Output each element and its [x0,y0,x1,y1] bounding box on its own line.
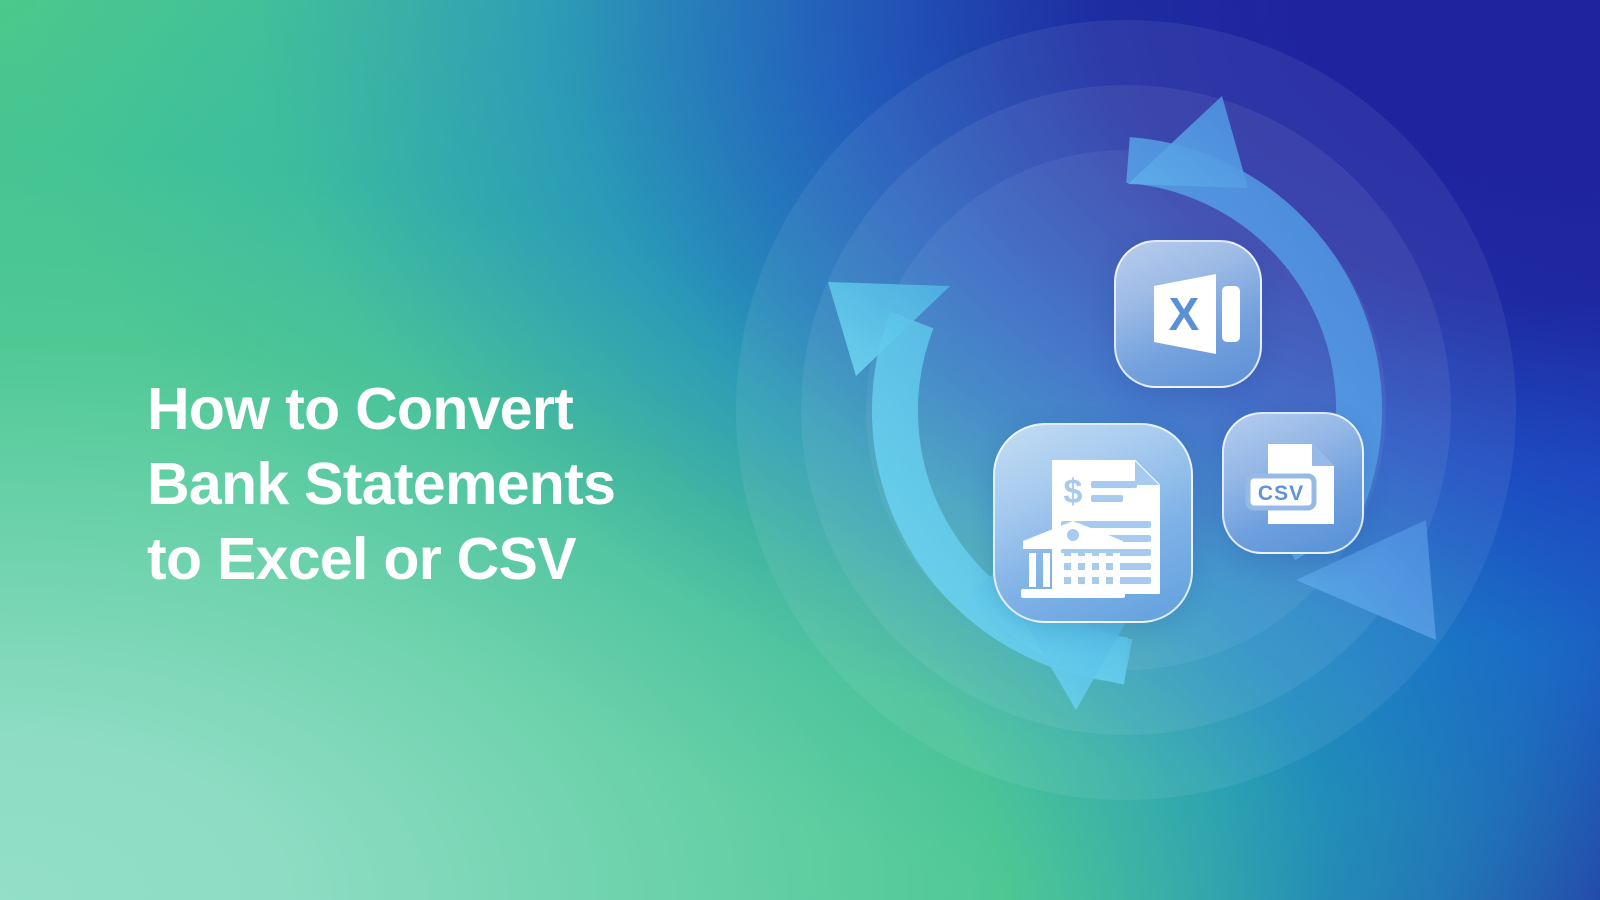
excel-letter-x: X [1169,288,1200,340]
csv-badge-label: CSV [1258,482,1304,505]
conversion-cycle-arrows [736,20,1516,800]
page-title: How to Convert Bank Statements to Excel … [147,372,767,597]
excel-file-icon: X [1116,242,1260,386]
csv-file-icon: CSV [1224,414,1362,552]
bank-statement-icon: $ [995,425,1191,621]
dollar-symbol: $ [1064,473,1083,511]
hero-banner: X $ [0,0,1600,900]
excel-tile[interactable]: X [1114,240,1262,388]
bank-statement-tile[interactable]: $ [993,423,1193,623]
csv-tile[interactable]: CSV [1222,412,1364,554]
